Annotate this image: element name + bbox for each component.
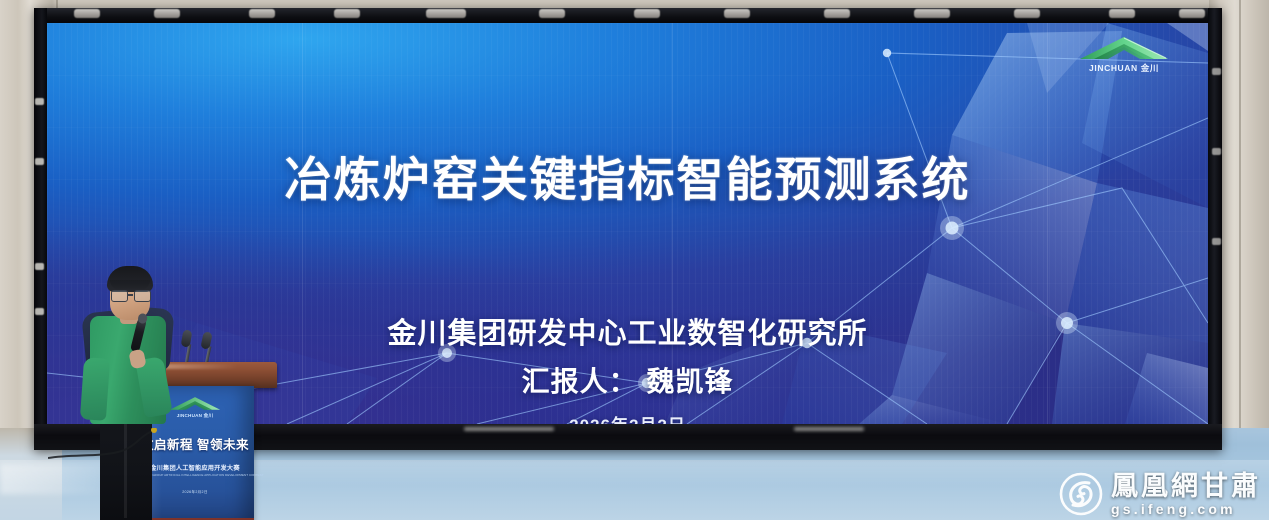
screenshot-root: JINCHUAN 金川 冶炼炉窑关键指标智能预测系统 金川集团研发中心工业数智化…	[0, 0, 1269, 520]
floor-cable	[48, 428, 158, 462]
speaker-arm-left	[80, 357, 110, 421]
jinchuan-logo-en: JINCHUAN	[1089, 63, 1138, 73]
screen-bezel-top	[34, 8, 1222, 23]
watermark-title: 鳳凰網甘肅	[1111, 473, 1261, 500]
jinchuan-logo-cn: 金川	[1141, 63, 1159, 73]
jinchuan-logo: JINCHUAN 金川	[1076, 35, 1172, 79]
slide-title: 冶炼炉窑关键指标智能预测系统	[47, 141, 1208, 210]
watermark-text: 鳳凰網甘肅 gs.ifeng.com	[1111, 473, 1261, 516]
podium-logo-cn: 金川	[204, 413, 214, 418]
speaker-glasses	[111, 290, 149, 300]
phoenix-swirl-icon	[1059, 472, 1103, 516]
jinchuan-logo-text: JINCHUAN 金川	[1076, 62, 1172, 74]
screen-bezel-right	[1208, 8, 1222, 450]
speaker-presenter	[78, 220, 196, 520]
watermark-url: gs.ifeng.com	[1111, 502, 1261, 516]
watermark-ifeng-gansu: 鳳凰網甘肅 gs.ifeng.com	[1059, 472, 1261, 516]
screen-bezel-left	[34, 8, 47, 450]
speaker-hair	[107, 266, 153, 292]
